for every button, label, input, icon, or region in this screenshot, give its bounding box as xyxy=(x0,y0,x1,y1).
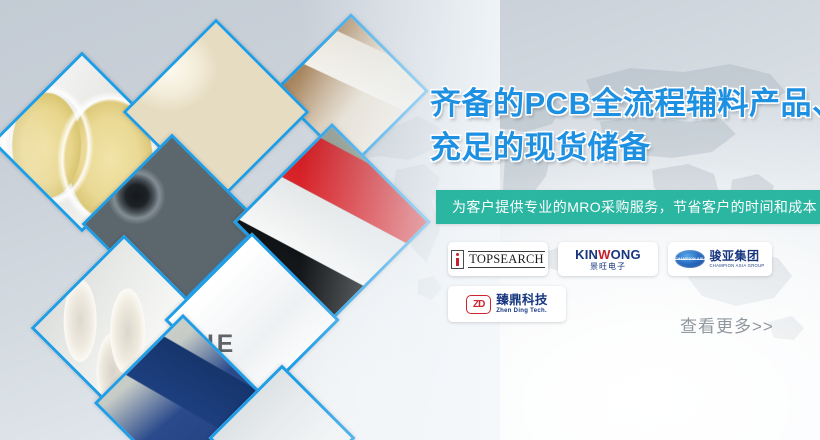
promo-banner: 齐备的PCB全流程辅料产品、 充足的现货储备 为客户提供专业的MRO采购服务，节… xyxy=(0,0,820,440)
subtitle-bar: 为客户提供专业的MRO采购服务，节省客户的时间和成本 xyxy=(436,190,820,224)
headline-line-2: 充足的现货储备 xyxy=(430,126,820,170)
product-image-collage xyxy=(0,0,440,440)
topsearch-wordmark: TOPSEARCH xyxy=(468,251,545,268)
champion-asia-globe-text: CHAMPION ASIA xyxy=(675,257,705,261)
headline-line-1: 齐备的PCB全流程辅料产品、 xyxy=(430,82,820,126)
zhen-ding-chinese-name: 臻鼎科技 xyxy=(496,294,548,307)
headline-block: 齐备的PCB全流程辅料产品、 充足的现货储备 xyxy=(430,82,820,170)
kinwong-chinese-name: 景旺电子 xyxy=(575,263,641,271)
view-more-link[interactable]: 查看更多>> xyxy=(680,312,774,337)
champion-asia-chinese-name: 骏亚集团 xyxy=(709,250,764,262)
logo-card-champion-asia[interactable]: CHAMPION ASIA 骏亚集团 CHAMPION ASIA GROUP xyxy=(668,242,772,276)
topsearch-i-in-box-icon xyxy=(451,250,464,269)
kinwong-wordmark-w: W xyxy=(598,247,610,262)
kinwong-wordmark: KINWONG xyxy=(575,248,641,261)
zhen-ding-zd-monogram-icon: ZD xyxy=(466,295,491,314)
champion-asia-globe-icon: CHAMPION ASIA xyxy=(675,250,705,268)
subtitle-text: 为客户提供专业的MRO采购服务，节省客户的时间和成本 xyxy=(436,197,817,217)
kinwong-wordmark-right: ONG xyxy=(611,247,641,262)
logo-card-topsearch[interactable]: TOPSEARCH xyxy=(448,242,548,276)
logo-card-kinwong[interactable]: KINWONG 景旺电子 xyxy=(558,242,658,276)
logo-card-zhen-ding[interactable]: ZD 臻鼎科技 Zhen Ding Tech. xyxy=(448,286,566,322)
client-logos-row-1: TOPSEARCH KINWONG 景旺电子 CHAMPION ASIA 骏亚集… xyxy=(448,242,820,276)
champion-asia-english-name: CHAMPION ASIA GROUP xyxy=(709,264,764,268)
kinwong-wordmark-left: KIN xyxy=(575,247,598,262)
zhen-ding-english-name: Zhen Ding Tech. xyxy=(496,308,548,314)
